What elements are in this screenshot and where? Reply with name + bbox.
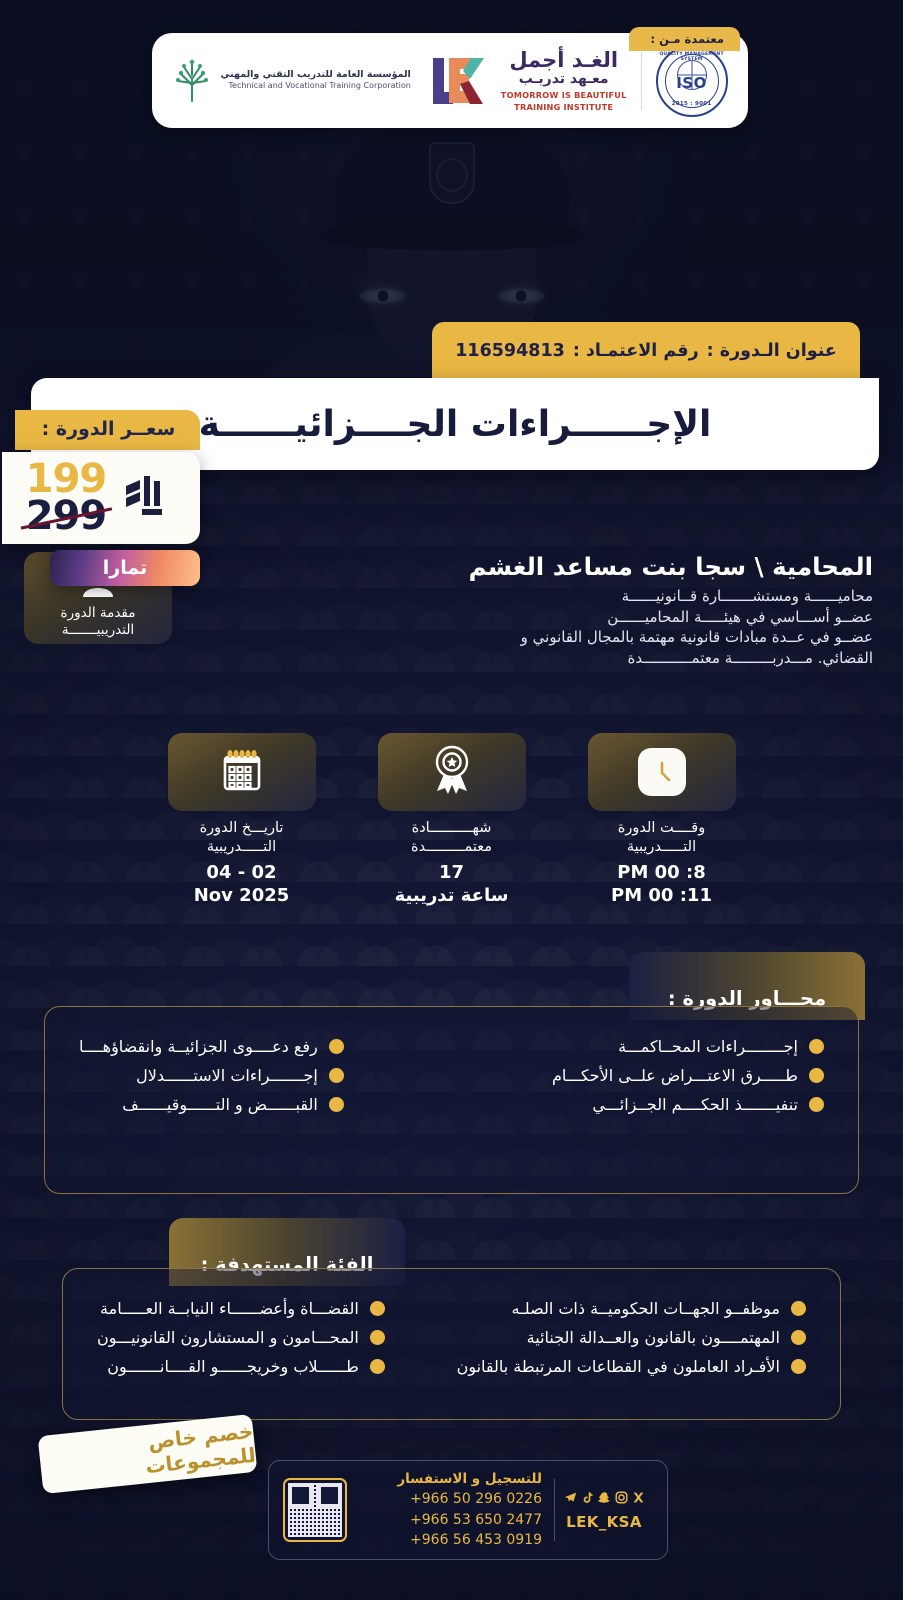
price-block: سعــر الدورة : 199 299 تمارا bbox=[0, 410, 200, 586]
topic-text: إجـــــــراءات الاستــــــدلال bbox=[136, 1066, 318, 1085]
list-item: إجــــــــراءات المحــاكمـــة bbox=[552, 1037, 824, 1056]
accreditation-number: 116594813 bbox=[455, 341, 565, 361]
topics-left-column: إجــــــــراءات المحــاكمـــة طـــــرق ا… bbox=[552, 1037, 824, 1114]
bullet-dot-icon bbox=[791, 1301, 806, 1316]
clock-icon-box bbox=[588, 733, 736, 811]
social-handle[interactable]: LEK_KSA bbox=[555, 1513, 653, 1531]
audience-text: المهتمــــون بالقانون والعــدالة الجنائي… bbox=[527, 1328, 780, 1347]
bullet-dot-icon bbox=[329, 1039, 344, 1054]
certificate-ribbon-icon bbox=[428, 744, 476, 800]
bullet-dot-icon bbox=[329, 1097, 344, 1112]
info-label-line: التـــــدريبية bbox=[168, 838, 316, 857]
bullet-dot-icon bbox=[809, 1097, 824, 1112]
clock-icon bbox=[638, 748, 686, 796]
iso-standard-text: 9001 : 2015 bbox=[658, 101, 726, 107]
tvtc-logo-icon bbox=[172, 59, 212, 103]
page-title: الإجــــــراءات الجــــزائيــــــة bbox=[199, 404, 712, 445]
list-item: طــــــلاب وخريجــــــو القــــانـــــــ… bbox=[97, 1357, 385, 1376]
info-card-certificate: شهــــــــــادة معتمـــــــــدة 17 ساعة … bbox=[378, 733, 526, 907]
calendar-icon-box bbox=[168, 733, 316, 811]
info-label-line: معتمـــــــــدة bbox=[378, 838, 526, 857]
accreditation-number-bar: عنوان الـدورة : رقم الاعتمـاد : 11659481… bbox=[432, 322, 860, 380]
price-label: سعــر الدورة : bbox=[15, 410, 200, 450]
course-label: عنوان الـدورة : bbox=[707, 341, 837, 361]
audience-text: القضـــاة وأعضــــــاء النيابــة العــــ… bbox=[100, 1299, 359, 1318]
instructor-badge-label-2: التدريبيـــــــة bbox=[61, 622, 136, 639]
certificate-icon-box bbox=[378, 733, 526, 811]
list-item: تنفيـــــــذ الحكــــم الجــزائـــي bbox=[552, 1095, 824, 1114]
institute-name-block: الغـد أجمل معـهد تدريـب TOMORROW IS BEAU… bbox=[501, 49, 627, 112]
audience-text: الأفـراد العاملون في القطاعات المرتبطة ب… bbox=[457, 1357, 780, 1376]
bullet-dot-icon bbox=[370, 1359, 385, 1374]
audience-bullets: موظفــو الجهــات الحكوميــة ذات الصلـه ا… bbox=[63, 1269, 840, 1406]
list-item: رفع دعــــوى الجزائيــة وانقضاؤهــــا bbox=[79, 1037, 344, 1056]
list-item: طـــــرق الاعتـــراض علــى الأحكـــام bbox=[552, 1066, 824, 1085]
info-card-date: تاريـــخ الدورة التـــــدريبية 02 - 04 N… bbox=[168, 733, 316, 907]
instructor-bio-line: القضائي. مـــدربـــــــــة معتمـــــــــ… bbox=[190, 648, 873, 669]
saudi-riyal-icon bbox=[116, 470, 168, 526]
instagram-icon[interactable] bbox=[615, 1489, 628, 1508]
calendar-icon bbox=[216, 744, 268, 800]
audience-text: المحـــامون و المستشارون القانونيـــون bbox=[97, 1328, 359, 1347]
bullet-dot-icon bbox=[370, 1330, 385, 1345]
list-item: القبــــــض و التــــــوقيــــــف bbox=[79, 1095, 344, 1114]
topic-text: القبــــــض و التــــــوقيــــــف bbox=[122, 1095, 318, 1114]
audience-text: طــــــلاب وخريجــــــو القــــانـــــــ… bbox=[107, 1357, 359, 1376]
instructor-bio-line: عضــو في عــدة مبادات قانونية مهتمة بالم… bbox=[190, 627, 873, 648]
lek-logo-icon bbox=[425, 51, 487, 111]
topic-text: إجــــــــراءات المحــاكمـــة bbox=[618, 1037, 798, 1056]
tvtc-name-en: Technical and Vocational Training Corpor… bbox=[220, 81, 410, 91]
list-item: المهتمــــون بالقانون والعــدالة الجنائي… bbox=[457, 1328, 806, 1347]
list-item: المحـــامون و المستشارون القانونيـــون bbox=[97, 1328, 385, 1347]
topic-text: تنفيـــــــذ الحكــــم الجــزائـــي bbox=[592, 1095, 798, 1114]
info-label-line: وقــــت الدورة bbox=[588, 819, 736, 838]
bullet-dot-icon bbox=[791, 1330, 806, 1345]
info-value-line: Nov 2025 bbox=[168, 884, 316, 907]
info-value-line: ساعة تدريبية bbox=[378, 884, 526, 907]
topics-section-box: إجــــــــراءات المحــاكمـــة طـــــرق ا… bbox=[44, 1006, 859, 1194]
list-item: القضـــاة وأعضــــــاء النيابــة العــــ… bbox=[97, 1299, 385, 1318]
topic-text: طـــــرق الاعتـــراض علــى الأحكـــام bbox=[552, 1066, 798, 1085]
info-value-line: 8: 00 PM bbox=[588, 861, 736, 884]
phone-number[interactable]: +966 56 453 0919 bbox=[359, 1530, 542, 1550]
info-cards-row: وقــــت الدورة التـــــدريبية 8: 00 PM 1… bbox=[0, 733, 903, 907]
bullet-dot-icon bbox=[329, 1068, 344, 1083]
qr-code-pattern bbox=[288, 1483, 342, 1537]
snapchat-icon[interactable] bbox=[598, 1489, 611, 1508]
info-label-line: تاريـــخ الدورة bbox=[168, 819, 316, 838]
tvtc-name-ar: المؤسسة العامة للتدريب التقني والمهني bbox=[220, 69, 410, 81]
list-item: موظفــو الجهــات الحكوميــة ذات الصلـه bbox=[457, 1299, 806, 1318]
phone-number[interactable]: +966 53 650 2477 bbox=[359, 1510, 542, 1530]
instructor-badge-label-1: مقدمة الدورة bbox=[61, 605, 136, 622]
telegram-icon[interactable] bbox=[564, 1489, 577, 1508]
bullet-dot-icon bbox=[809, 1039, 824, 1054]
bullet-dot-icon bbox=[809, 1068, 824, 1083]
contact-heading: للتسجيل و الاستفسار bbox=[359, 1470, 542, 1490]
cert-divider-1 bbox=[641, 52, 642, 110]
bullet-dot-icon bbox=[370, 1301, 385, 1316]
info-value-line: 17 bbox=[378, 861, 526, 884]
topics-right-column: رفع دعــــوى الجزائيــة وانقضاؤهــــا إج… bbox=[79, 1037, 344, 1114]
iso-seal-icon: QUALITY MANAGEMENT SYSTEM ISO 9001 : 201… bbox=[656, 45, 728, 117]
x-twitter-icon[interactable] bbox=[632, 1489, 645, 1508]
tamara-label: تمارا bbox=[103, 557, 147, 579]
institute-name-ar-2: معـهد تدريـب bbox=[501, 71, 627, 88]
audience-left-column: موظفــو الجهــات الحكوميــة ذات الصلـه ا… bbox=[457, 1299, 806, 1376]
accreditation-label: رقم الاعتمـاد : bbox=[573, 341, 699, 361]
footer-contact-bar: LEK_KSA للتسجيل و الاستفسار +966 50 296 … bbox=[268, 1460, 668, 1560]
accreditation-bar: معتمدة مـن : QUALITY MANAGEMENT SYSTEM I… bbox=[152, 33, 748, 128]
price-card: 199 299 bbox=[2, 452, 200, 544]
institute-name-en-2: TRAINING INSTITUTE bbox=[501, 102, 627, 112]
instructor-bio: محاميــــــة ومستشـــــــارة قــانونيـــ… bbox=[190, 586, 873, 669]
poster-root: معتمدة مـن : QUALITY MANAGEMENT SYSTEM I… bbox=[0, 0, 903, 1600]
info-value-line: 11: 00 PM bbox=[588, 884, 736, 907]
instructor-bio-line: محاميــــــة ومستشـــــــارة قــانونيـــ… bbox=[190, 586, 873, 607]
list-item: إجـــــــراءات الاستــــــدلال bbox=[79, 1066, 344, 1085]
info-label-line: التـــــدريبية bbox=[588, 838, 736, 857]
iso-main-text: ISO bbox=[676, 74, 707, 92]
social-block: LEK_KSA bbox=[555, 1489, 653, 1531]
instructor-name: المحامية \ سجا بنت مساعد الغشم bbox=[190, 552, 873, 581]
phone-number[interactable]: +966 50 296 0226 bbox=[359, 1489, 542, 1509]
info-card-time: وقــــت الدورة التـــــدريبية 8: 00 PM 1… bbox=[588, 733, 736, 907]
info-label-line: شهــــــــــادة bbox=[378, 819, 526, 838]
topic-text: رفع دعــــوى الجزائيــة وانقضاؤهــــا bbox=[79, 1037, 318, 1056]
institute-name-en-1: TOMORROW IS BEAUTIFUL bbox=[501, 90, 627, 100]
tiktok-icon[interactable] bbox=[581, 1489, 594, 1508]
footer-divider bbox=[554, 1479, 555, 1541]
topics-bullets: إجــــــــراءات المحــاكمـــة طـــــرق ا… bbox=[45, 1007, 858, 1144]
contact-block: للتسجيل و الاستفسار +966 50 296 0226 +96… bbox=[347, 1470, 554, 1550]
instructor-text-block: المحامية \ سجا بنت مساعد الغشم محاميــــ… bbox=[190, 552, 879, 669]
institute-name-ar-1: الغـد أجمل bbox=[501, 49, 627, 71]
accredited-by-tab: معتمدة مـن : bbox=[629, 27, 740, 51]
info-value-line: 02 - 04 bbox=[168, 861, 316, 884]
qr-code-icon[interactable] bbox=[283, 1478, 347, 1542]
audience-section-box: موظفــو الجهــات الحكوميــة ذات الصلـه ا… bbox=[62, 1268, 841, 1420]
audience-right-column: القضـــاة وأعضــــــاء النيابــة العــــ… bbox=[97, 1299, 385, 1376]
social-icons-row bbox=[555, 1489, 653, 1508]
tamara-badge: تمارا bbox=[50, 550, 200, 586]
tvtc-block: المؤسسة العامة للتدريب التقني والمهني Te… bbox=[172, 59, 410, 103]
list-item: الأفـراد العاملون في القطاعات المرتبطة ب… bbox=[457, 1357, 806, 1376]
price-original: 299 bbox=[26, 498, 107, 535]
bullet-dot-icon bbox=[791, 1359, 806, 1374]
instructor-bio-line: عضــو أســـاسي في هيئـــــة المحاميـــــ… bbox=[190, 607, 873, 628]
audience-text: موظفــو الجهــات الحكوميــة ذات الصلـه bbox=[512, 1299, 780, 1318]
